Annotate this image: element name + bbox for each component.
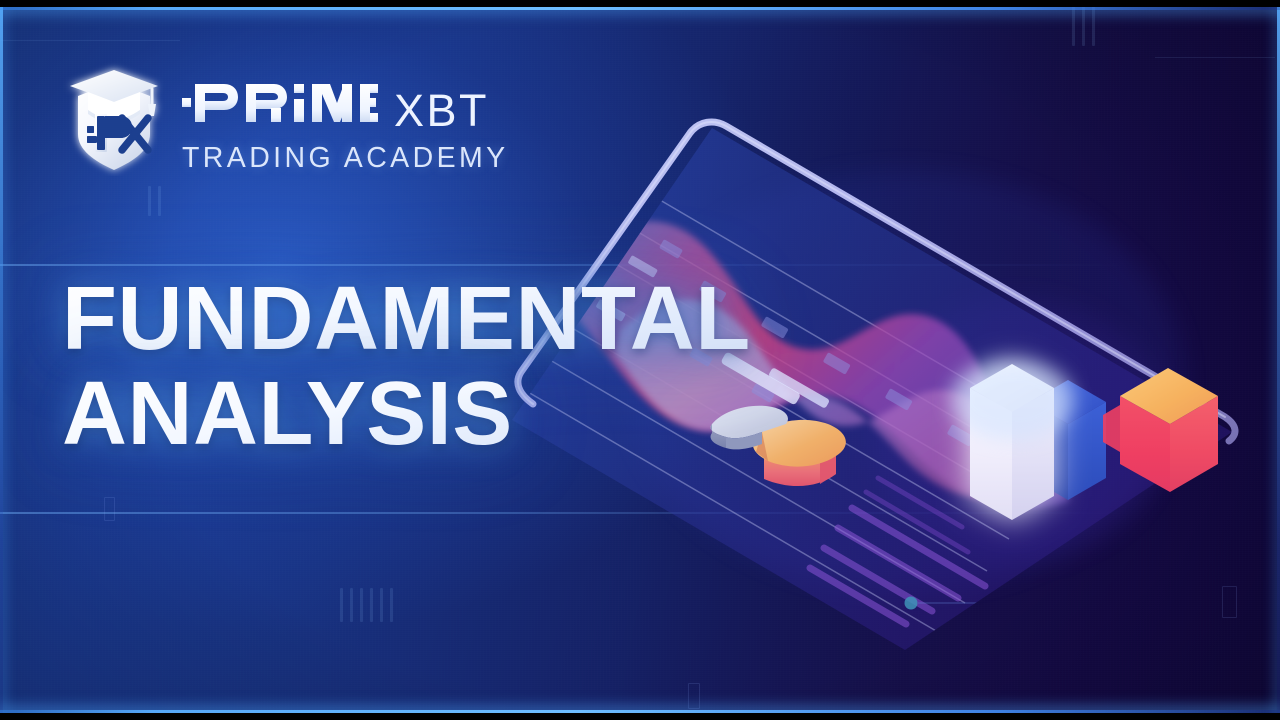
page-title-line-1: FUNDAMENTAL bbox=[62, 272, 751, 367]
page-title: FUNDAMENTAL ANALYSIS bbox=[62, 272, 751, 462]
brand-tagline: TRADING ACADEMY bbox=[182, 142, 509, 175]
scanline-lower bbox=[0, 512, 1280, 514]
graduation-cap-shield-px-icon bbox=[60, 58, 168, 176]
letterbox-bottom bbox=[0, 713, 1280, 720]
page-title-line-2: ANALYSIS bbox=[62, 367, 751, 462]
hint-line-b bbox=[0, 40, 180, 41]
title-card: XBT TRADING ACADEMY FUNDAMENTAL ANALYSIS bbox=[0, 0, 1280, 720]
wordmark-prime bbox=[182, 80, 378, 126]
letterbox-top bbox=[0, 0, 1280, 7]
tick-group-top-right bbox=[1072, 4, 1095, 46]
ghost-rect-left bbox=[104, 497, 115, 521]
hint-line-a bbox=[1155, 57, 1275, 58]
brand-text: XBT TRADING ACADEMY bbox=[182, 58, 509, 175]
tick-group-mid-left bbox=[148, 186, 161, 216]
brand-logo[interactable]: XBT TRADING ACADEMY bbox=[60, 58, 509, 176]
tick-group-bottom-left bbox=[340, 588, 393, 622]
wordmark: XBT bbox=[182, 80, 509, 133]
wordmark-xbt: XBT bbox=[394, 88, 489, 133]
ghost-rect-mid bbox=[688, 683, 700, 709]
ghost-rect-right bbox=[1222, 586, 1237, 618]
scanline-upper bbox=[0, 264, 1280, 266]
